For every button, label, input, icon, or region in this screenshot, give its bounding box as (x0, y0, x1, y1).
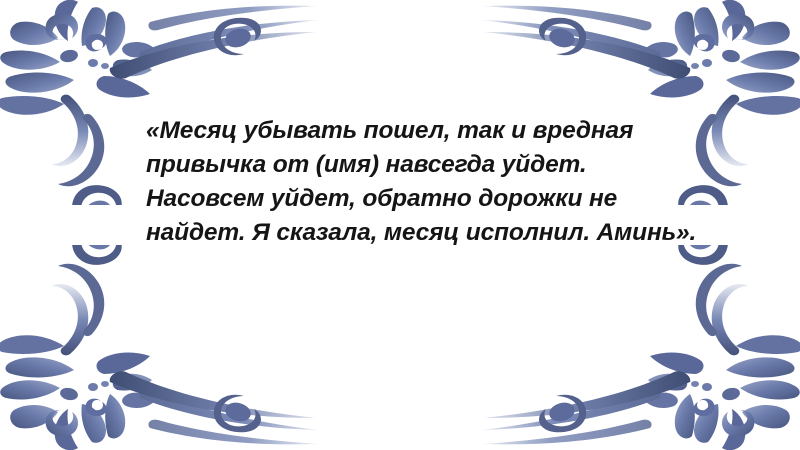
quote-line: «Месяц убывать пошел, так и вредная (146, 114, 694, 148)
corner-ornament-bottom-left (0, 245, 320, 450)
quote-line: Насовсем уйдет, обратно дорожки не (146, 182, 694, 216)
quote-card: «Месяц убывать пошел, так и вредная прив… (0, 0, 800, 450)
corner-ornament-bottom-right (480, 245, 800, 450)
quote-text-block: «Месяц убывать пошел, так и вредная прив… (146, 114, 694, 250)
quote-line: привычка от (имя) навсегда уйдет. (146, 148, 694, 182)
quote-line: найдет. Я сказала, месяц исполнил. Аминь… (146, 216, 694, 250)
